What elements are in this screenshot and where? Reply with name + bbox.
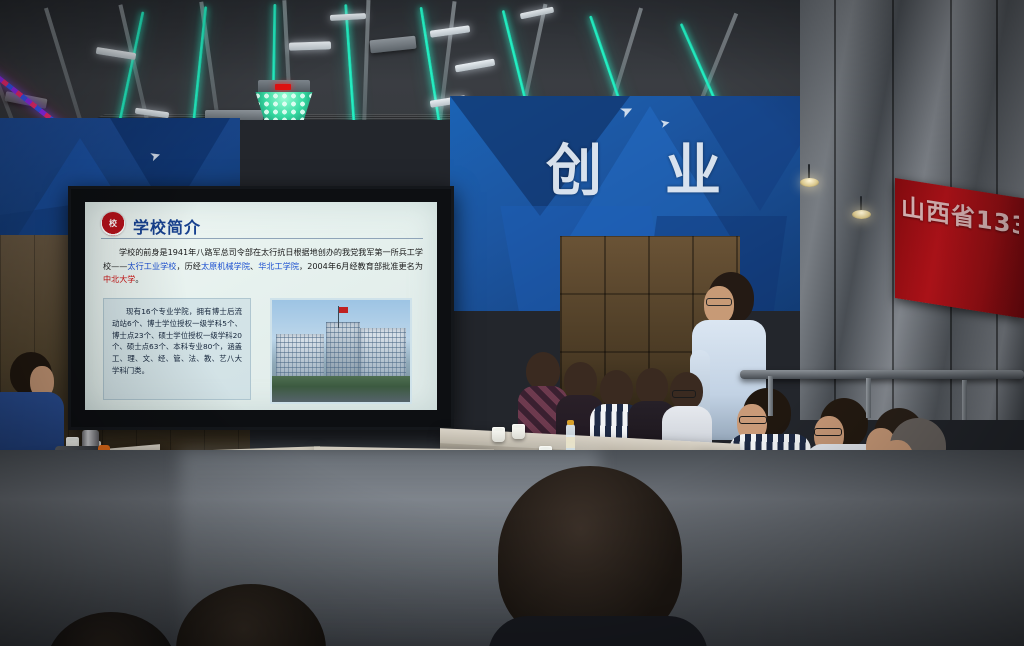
conference-room-photo: ➤ ➤ 创 业 ➤ ➤ ➤ ➤ 山西省1331 [0,0,1024,646]
title-divider [101,238,423,239]
para-part-3: 、 [250,261,258,271]
stage-light-indicator [275,84,291,90]
building-left [276,334,324,378]
railing-post [768,376,773,416]
ceiling-panel-light [330,13,366,21]
glasses-icon [739,416,767,424]
red-banner: 山西省1331工程 [895,178,1024,318]
mural-character-1: 创 [546,126,602,207]
head [636,368,668,405]
paper-cup [492,427,505,442]
banner-text: 山西省1331工程 [901,187,1019,310]
building-tower [326,322,360,378]
photo-ground [272,376,410,402]
para-link-1: 太行工业学校 [127,261,176,271]
air-duct [369,36,416,54]
head [600,370,633,408]
building-right [360,328,406,378]
para-link-3: 华北工学院 [258,261,299,271]
paper-cup [512,424,525,439]
glasses-icon [706,298,732,306]
ceiling-panel-light [289,41,331,50]
mural-character-2: 业 [665,126,721,207]
head [526,352,560,390]
projection-screen: 校 学校简介 学校的前身是1941年八路军总司令部在太行抗日根据地创办的我党我军… [68,186,454,430]
slide-stats-box: 现有16个专业学院，拥有博士后流动站6个、博士学位授权一级学科5个、博士点23个… [103,298,251,400]
flagpole [338,306,339,328]
glasses-icon [672,390,696,398]
shoulders [488,616,708,646]
railing-post [866,378,871,418]
slide-header: 校 学校简介 [101,210,423,240]
slide-content: 校 学校简介 学校的前身是1941年八路军总司令部在太行抗日根据地创办的我党我军… [85,202,437,410]
para-part-4: ，2004年6月经教育部批准更名为 [299,261,423,271]
para-part-2: ，历经 [176,261,201,271]
slide-title: 学校简介 [133,214,201,238]
university-logo-icon: 校 [101,212,125,236]
para-link-2: 太原机械学院 [201,261,250,271]
railing-post [962,380,967,420]
ceiling-panel-light [455,59,496,73]
para-part-5: 。 [135,274,143,284]
slide-paragraph: 学校的前身是1941年八路军总司令部在太行抗日根据地创办的我党我军第一所兵工学校… [103,246,423,287]
ceiling-panel-light [520,7,555,20]
logo-character: 校 [106,217,120,231]
para-highlight-1: 中北大学 [103,274,135,284]
glasses-icon [814,428,842,436]
head [564,362,597,399]
slide-campus-photo [270,298,412,404]
safety-railing [740,370,1024,379]
